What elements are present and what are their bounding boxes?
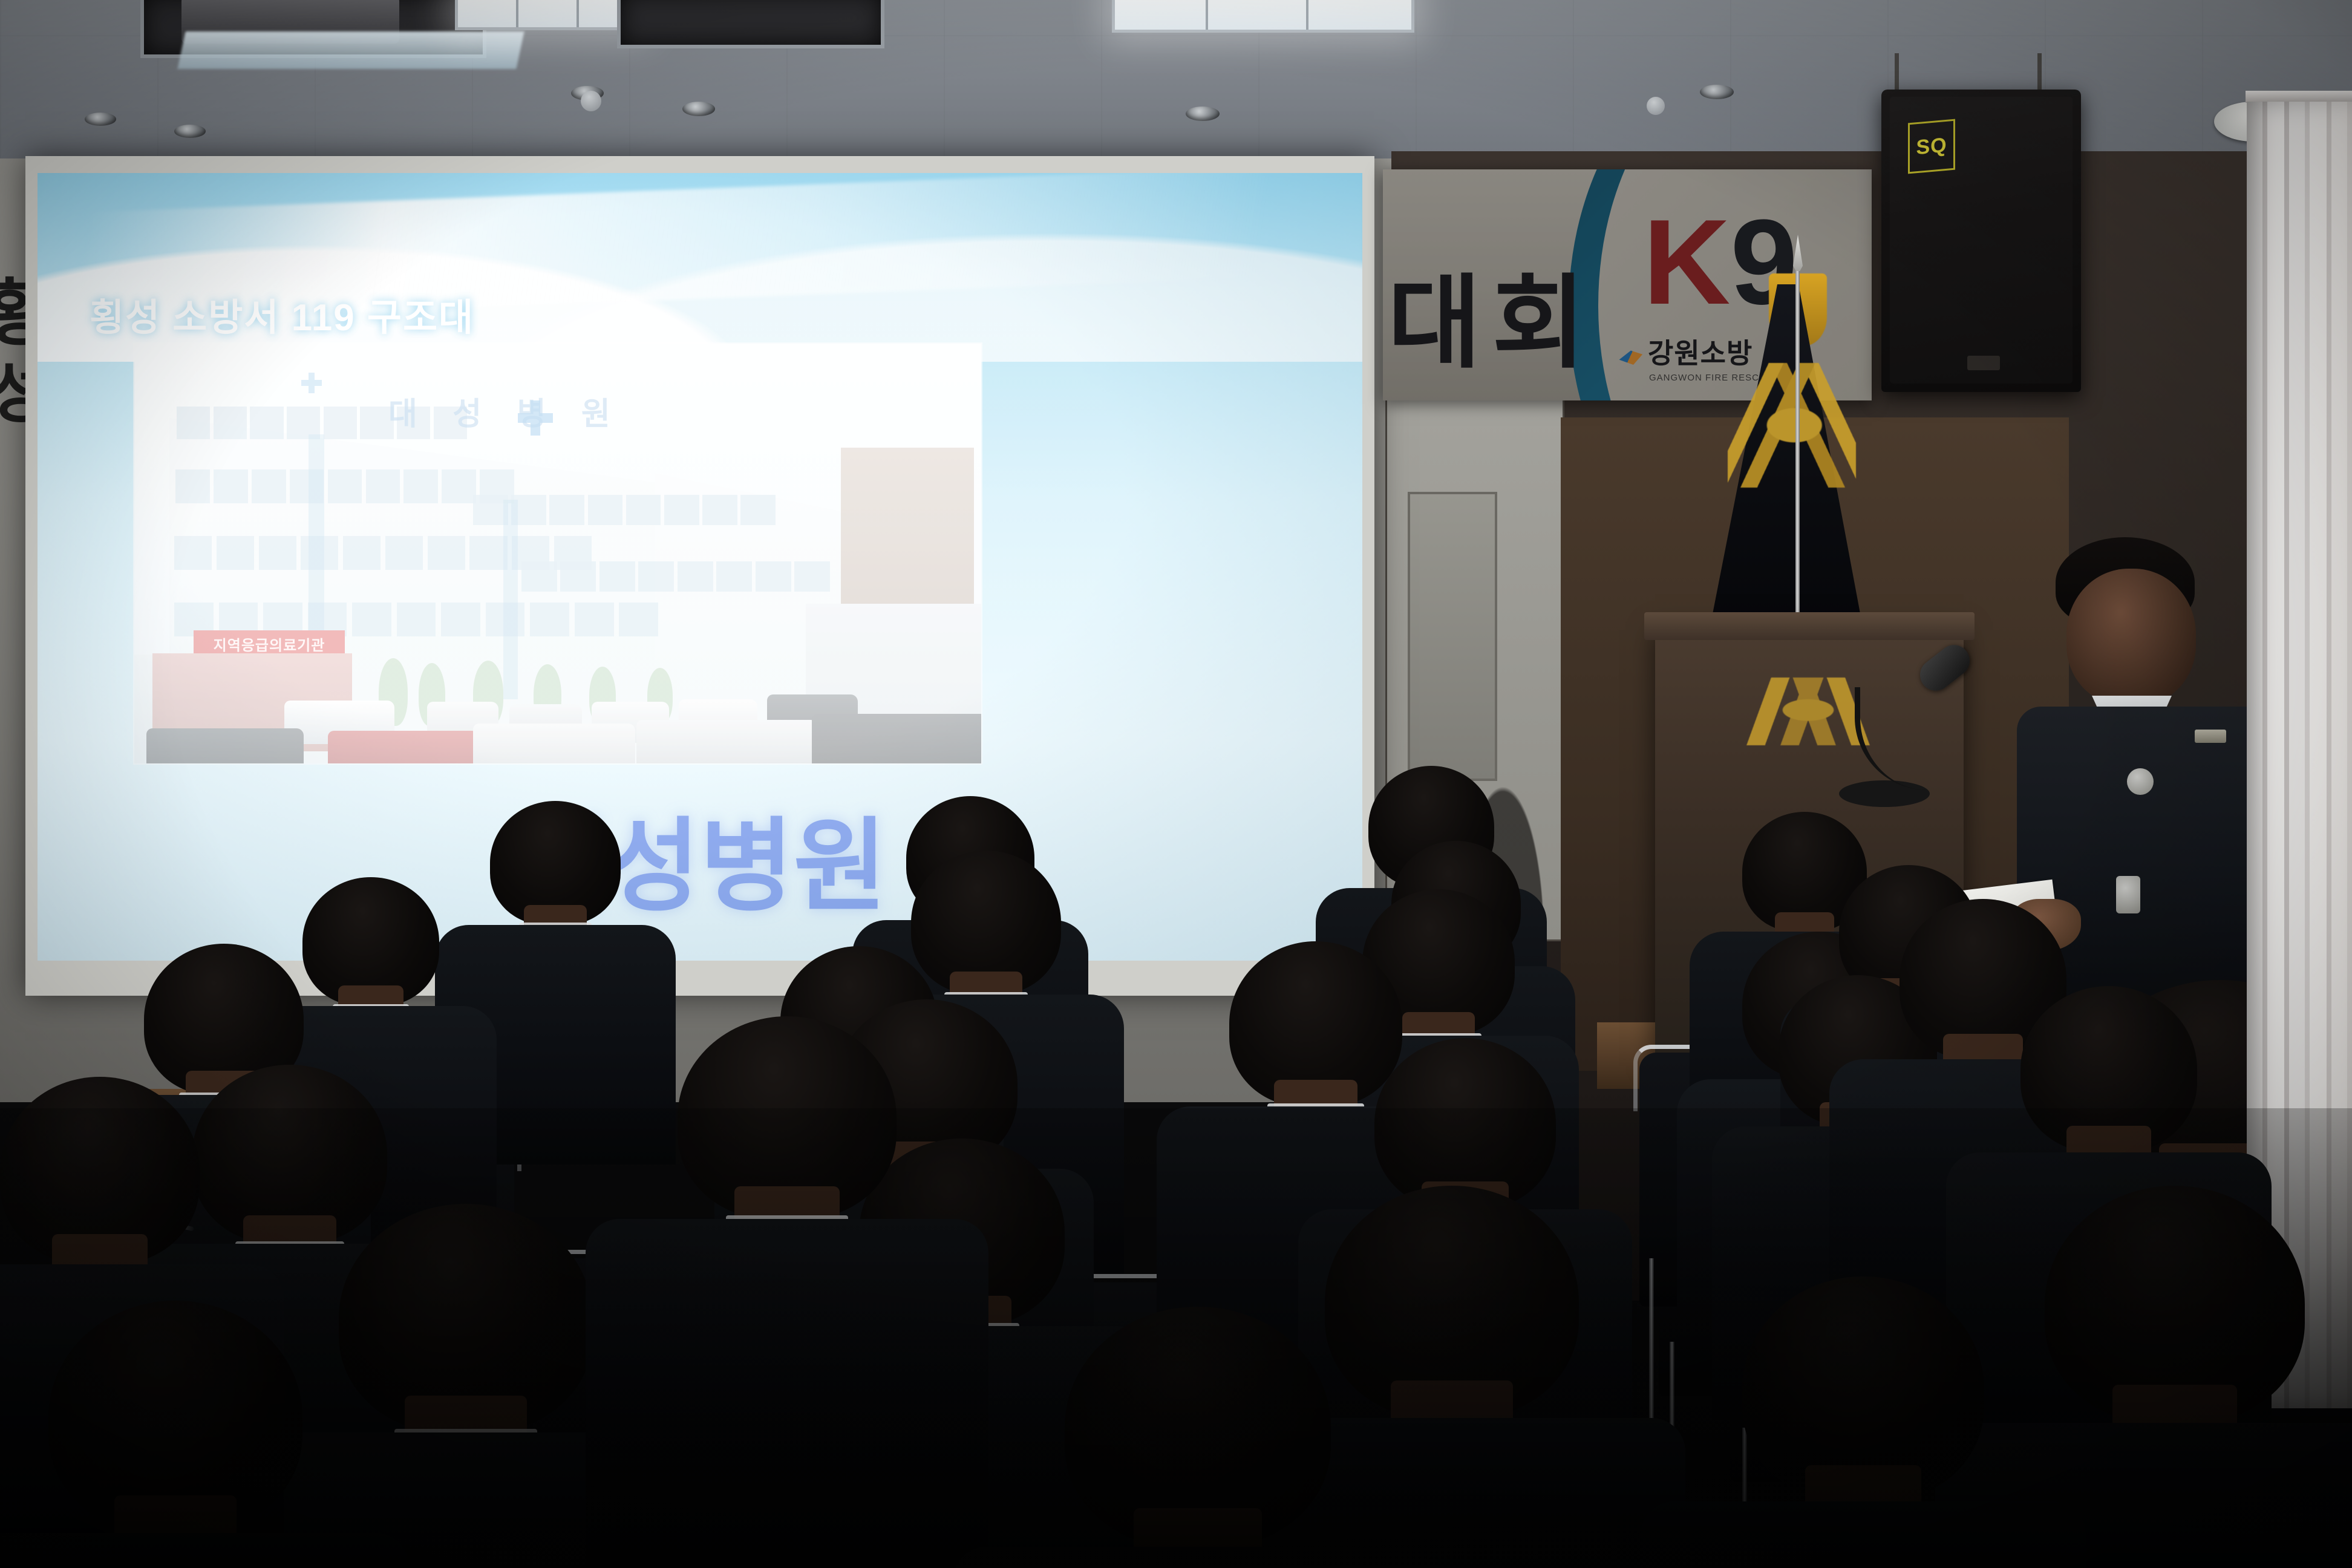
ceiling-vent-right	[617, 0, 884, 48]
gold-eagle-icon	[1743, 678, 1873, 745]
downlight	[85, 113, 116, 126]
door-frame	[1408, 492, 1497, 781]
ceiling-light-left	[455, 0, 642, 30]
photo-window-row	[175, 469, 514, 503]
speaker-rank-insignia	[2195, 730, 2226, 743]
slide-title-text: 대성병원	[38, 784, 1362, 931]
attendee	[302, 877, 439, 1085]
downlight	[174, 125, 206, 138]
slide-header-text: 횡성 소방서 119 구조대	[90, 287, 474, 341]
podium-top-surface	[1644, 612, 1975, 640]
gold-eagle-icon	[1728, 363, 1856, 488]
pa-speaker-badge: SQ	[1908, 119, 1955, 174]
conference-room-scene: 횡 성 횡성 소방서 119 구조대	[0, 0, 2352, 1568]
photo-car-foreground-silver	[473, 724, 635, 763]
sprinkler-head	[1647, 97, 1665, 115]
attendee	[490, 801, 621, 1001]
downlight	[1700, 85, 1734, 99]
speaker-head	[2066, 569, 2196, 705]
downlight	[682, 102, 715, 116]
ceiling-light-center	[1112, 0, 1414, 33]
slide-photo: 대 성 병 원 지역응급의료기관	[134, 344, 981, 763]
projector-beam	[177, 31, 524, 69]
projection-screen: 횡성 소방서 119 구조대	[38, 173, 1362, 961]
photo-vertical-sign-2	[503, 500, 518, 699]
speaker-chest-badge	[2127, 768, 2154, 795]
pa-speaker: SQ	[1881, 90, 2081, 392]
photo-cross-icon-small	[301, 373, 322, 393]
photo-roof-sign: 대 성 병 원	[388, 388, 624, 434]
photo-window-row	[521, 561, 830, 592]
photo-window-row	[473, 495, 776, 525]
flag-pole	[1795, 271, 1800, 646]
slide: 횡성 소방서 119 구조대	[38, 173, 1362, 961]
pa-speaker-logo-plate	[1967, 356, 2000, 370]
photo-car-foreground-red	[328, 731, 479, 763]
photo-car-foreground-dark-2	[812, 714, 981, 763]
photo-red-cross-icon	[518, 400, 553, 436]
foreground-shadow	[0, 1108, 2352, 1568]
sprinkler-head	[581, 91, 601, 111]
downlight	[1186, 106, 1220, 121]
photo-car-foreground-dark	[146, 728, 304, 763]
blinds-rail[interactable]	[2246, 91, 2352, 103]
speaker-name-badge	[2116, 876, 2140, 913]
photo-car-foreground-silver-2	[636, 720, 818, 763]
